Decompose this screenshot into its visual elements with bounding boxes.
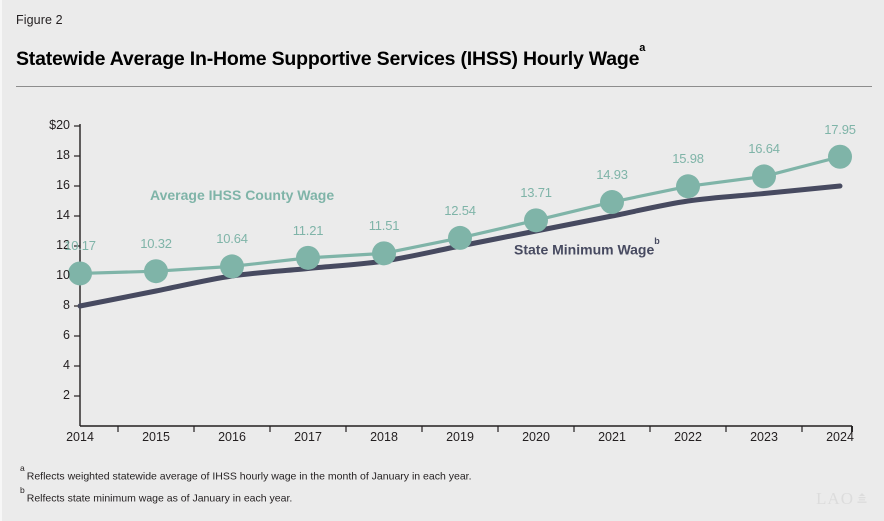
chart-svg <box>2 0 884 470</box>
data-point-marker <box>600 190 624 214</box>
footnote-a-marker: a <box>20 463 25 473</box>
lao-logo: LAO <box>816 489 870 509</box>
data-point-label: 11.21 <box>281 223 335 238</box>
data-point-label: 10.17 <box>53 238 107 253</box>
y-axis-label: 2 <box>28 388 70 402</box>
x-axis-label: 2022 <box>658 430 718 444</box>
data-point-marker <box>676 174 700 198</box>
x-axis-label: 2017 <box>278 430 338 444</box>
x-axis-label: 2019 <box>430 430 490 444</box>
series-label-ihss-text: Average IHSS County Wage <box>150 187 334 203</box>
data-point-marker <box>68 261 92 285</box>
lao-logo-text: LAO <box>816 489 854 509</box>
data-point-label: 13.71 <box>509 185 563 200</box>
x-axis-label: 2021 <box>582 430 642 444</box>
footnote-b-marker: b <box>20 485 25 495</box>
data-point-label: 15.98 <box>661 151 715 166</box>
data-point-marker <box>372 241 396 265</box>
x-axis-label: 2023 <box>734 430 794 444</box>
y-axis-label: 14 <box>28 208 70 222</box>
series-label-footnote-marker: b <box>654 236 660 246</box>
y-axis-label: $20 <box>28 118 70 132</box>
series-label-minimum-wage-text: State Minimum Wage <box>514 242 654 258</box>
y-axis-label: 4 <box>28 358 70 372</box>
data-point-label: 10.64 <box>205 231 259 246</box>
data-point-label: 17.95 <box>813 122 867 137</box>
y-axis-label: 6 <box>28 328 70 342</box>
series-label-ihss: Average IHSS County Wage <box>150 187 334 203</box>
figure-page: Figure 2 Statewide Average In-Home Suppo… <box>0 0 884 521</box>
data-point-marker <box>220 254 244 278</box>
x-axis-label: 2018 <box>354 430 414 444</box>
series-label-minimum-wage: State Minimum Wageb <box>514 241 660 258</box>
footnote-b: bRelfects state minimum wage as of Janua… <box>20 488 640 507</box>
data-point-marker <box>296 246 320 270</box>
data-point-label: 10.32 <box>129 236 183 251</box>
x-axis-label: 2015 <box>126 430 186 444</box>
data-point-marker <box>524 208 548 232</box>
data-point-label: 11.51 <box>357 218 411 233</box>
lao-logo-icon <box>854 491 870 507</box>
x-axis-label: 2016 <box>202 430 262 444</box>
data-point-label: 16.64 <box>737 141 791 156</box>
y-axis-label: 8 <box>28 298 70 312</box>
footnote-b-text: Relfects state minimum wage as of Januar… <box>27 492 293 504</box>
footnotes: aReflects weighted statewide average of … <box>20 466 640 510</box>
data-point-label: 14.93 <box>585 167 639 182</box>
x-axis-label: 2020 <box>506 430 566 444</box>
y-axis-label: 10 <box>28 268 70 282</box>
chart-plot-area: 24681012141618$2020142015201620172018201… <box>2 0 884 470</box>
y-axis-label: 18 <box>28 148 70 162</box>
footnote-a: aReflects weighted statewide average of … <box>20 466 640 485</box>
y-axis-label: 16 <box>28 178 70 192</box>
data-point-marker <box>828 145 852 169</box>
footnote-a-text: Reflects weighted statewide average of I… <box>27 471 472 483</box>
x-axis-label: 2014 <box>50 430 110 444</box>
data-point-label: 12.54 <box>433 203 487 218</box>
data-point-marker <box>144 259 168 283</box>
data-point-marker <box>448 226 472 250</box>
x-axis-label: 2024 <box>810 430 870 444</box>
data-point-marker <box>752 164 776 188</box>
